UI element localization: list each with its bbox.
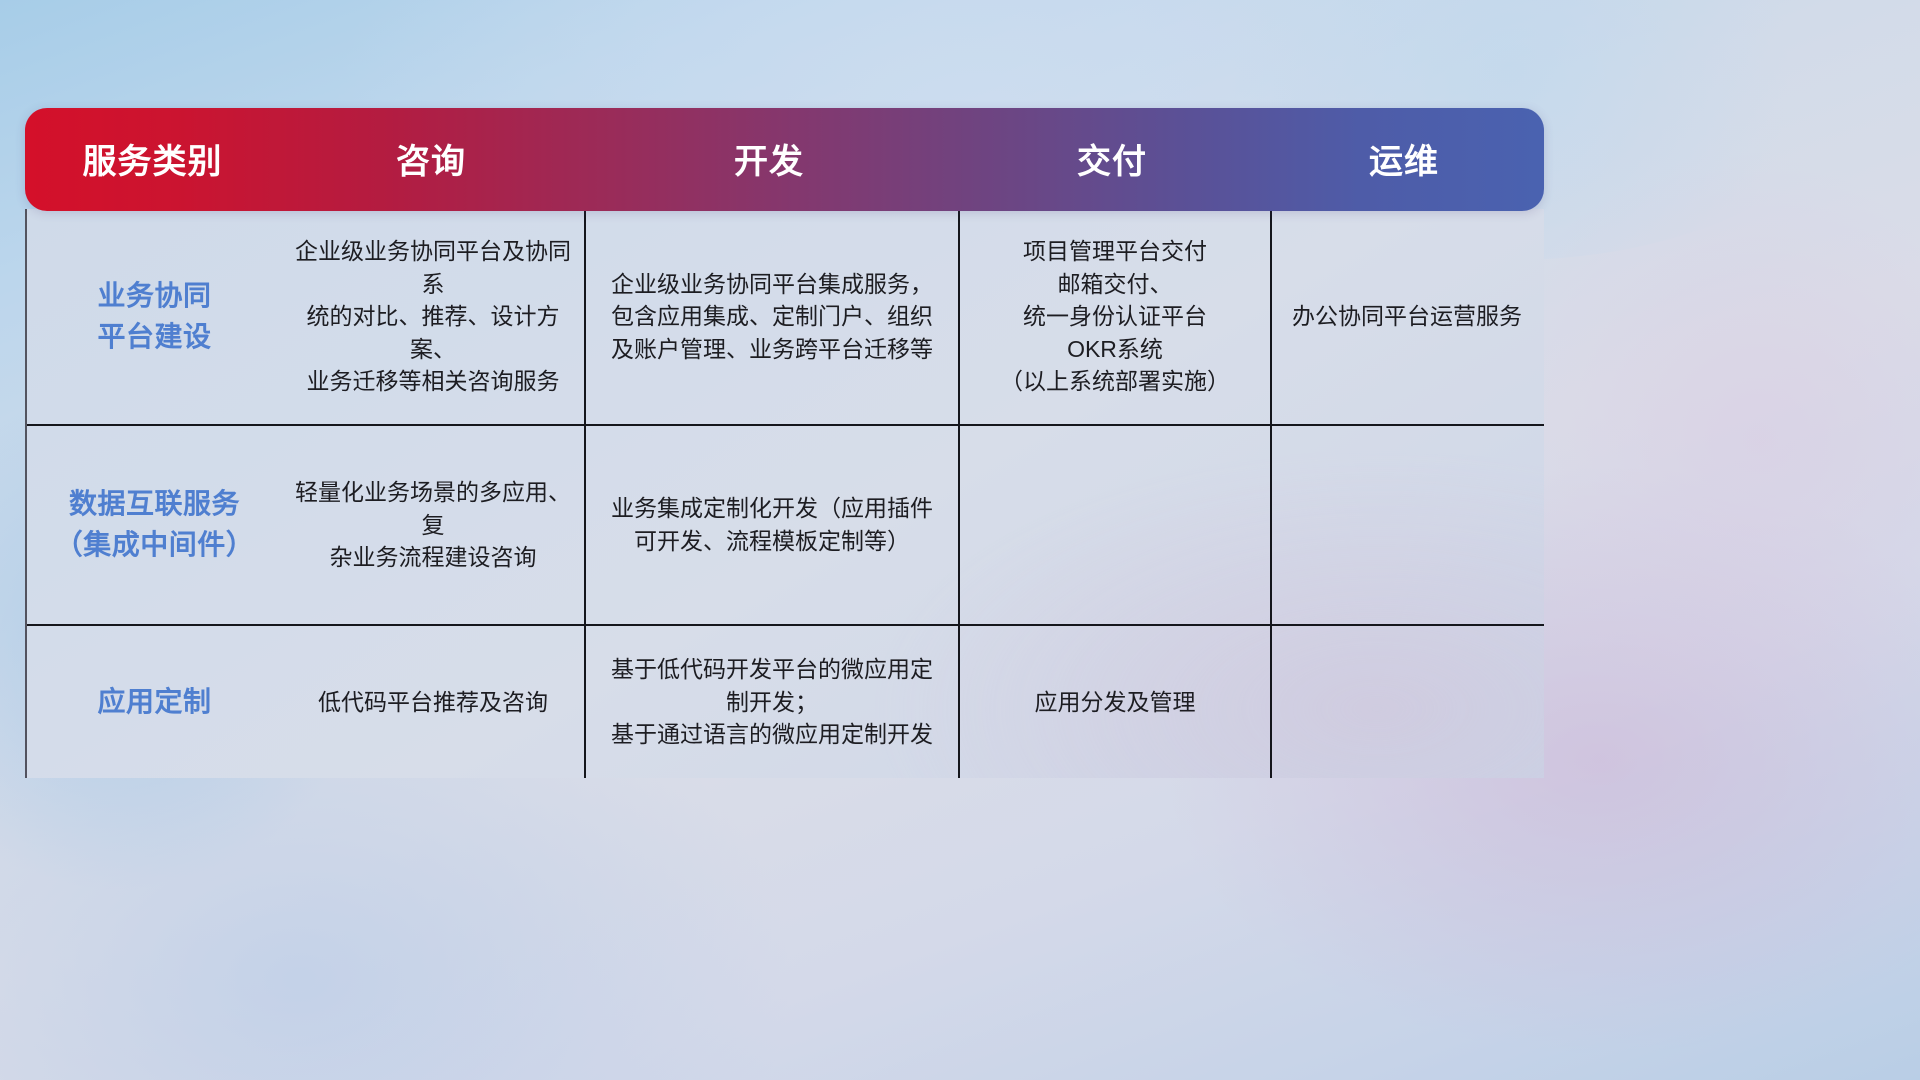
row-label-app-customization: 应用定制 bbox=[27, 626, 282, 778]
header-cell-development: 开发 bbox=[582, 141, 956, 179]
table-row: 应用定制 低代码平台推荐及咨询 基于低代码开发平台的微应用定 制开发； 基于通过… bbox=[27, 624, 1544, 778]
cell-operations-row3 bbox=[1270, 626, 1542, 778]
header-cell-operations: 运维 bbox=[1268, 141, 1540, 179]
cell-consulting-row3: 低代码平台推荐及咨询 bbox=[282, 626, 584, 778]
service-matrix-table: 服务类别 咨询 开发 交付 运维 业务协同 平台建设 企业级业务协同平台及协同系… bbox=[25, 108, 1544, 778]
cell-consulting-row2: 轻量化业务场景的多应用、复 杂业务流程建设咨询 bbox=[282, 426, 584, 624]
header-cell-delivery: 交付 bbox=[956, 141, 1268, 179]
cell-delivery-row2 bbox=[958, 426, 1270, 624]
row-label-business-collaboration: 业务协同 平台建设 bbox=[27, 209, 282, 424]
cell-development-row2: 业务集成定制化开发（应用插件 可开发、流程模板定制等） bbox=[584, 426, 958, 624]
cell-operations-row1: 办公协同平台运营服务 bbox=[1270, 209, 1542, 424]
header-cell-consulting: 咨询 bbox=[280, 141, 582, 179]
table-row: 数据互联服务 （集成中间件） 轻量化业务场景的多应用、复 杂业务流程建设咨询 业… bbox=[27, 424, 1544, 624]
row-label-data-interconnect: 数据互联服务 （集成中间件） bbox=[27, 426, 282, 624]
cell-development-row3: 基于低代码开发平台的微应用定 制开发； 基于通过语言的微应用定制开发 bbox=[584, 626, 958, 778]
table-body: 业务协同 平台建设 企业级业务协同平台及协同系 统的对比、推荐、设计方案、 业务… bbox=[25, 209, 1544, 778]
cell-delivery-row3: 应用分发及管理 bbox=[958, 626, 1270, 778]
cell-consulting-row1: 企业级业务协同平台及协同系 统的对比、推荐、设计方案、 业务迁移等相关咨询服务 bbox=[282, 209, 584, 424]
cell-operations-row2 bbox=[1270, 426, 1542, 624]
header-cell-service-category: 服务类别 bbox=[25, 141, 280, 179]
table-header-row: 服务类别 咨询 开发 交付 运维 bbox=[25, 108, 1544, 211]
table-row: 业务协同 平台建设 企业级业务协同平台及协同系 统的对比、推荐、设计方案、 业务… bbox=[27, 209, 1544, 424]
cell-development-row1: 企业级业务协同平台集成服务， 包含应用集成、定制门户、组织 及账户管理、业务跨平… bbox=[584, 209, 958, 424]
cell-delivery-row1: 项目管理平台交付 邮箱交付、 统一身份认证平台 OKR系统 （以上系统部署实施） bbox=[958, 209, 1270, 424]
